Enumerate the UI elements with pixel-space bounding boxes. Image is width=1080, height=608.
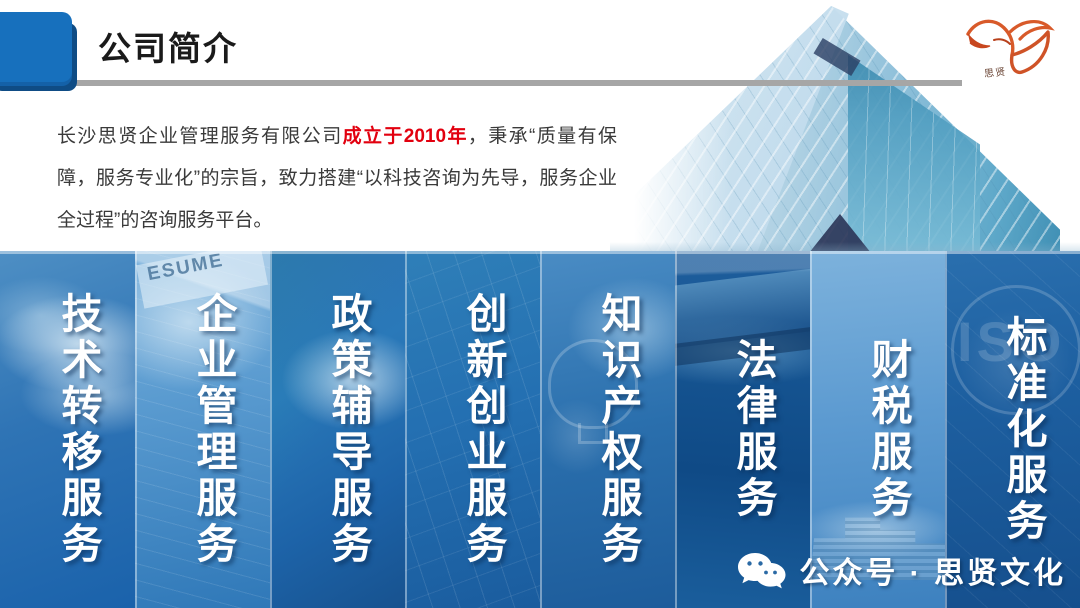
wechat-icon [737,550,787,590]
phoenix-bird-logo-icon [954,8,1062,92]
panel-tint [0,251,135,608]
service-panel[interactable]: 知识产权服务 [540,251,675,608]
wechat-icon-glyph [737,550,787,590]
service-panel[interactable]: 技术转移服务 [0,251,135,608]
service-panel[interactable]: ESUME 企业管理服务 [135,251,270,608]
building-fade-mask [610,0,730,252]
wechat-watermark: 公众号 · 思贤文化 [737,548,1066,592]
page-title: 公司简介 [98,22,238,70]
panel-tint [540,251,675,608]
intro-text-before: 长沙思贤企业管理服务有限公司 [57,126,343,147]
strip-top-highlight [0,251,1080,254]
logo-caption: 思贤 [983,63,1006,80]
title-tab [0,12,72,82]
header-divider [0,80,962,86]
panel-tint [270,251,405,608]
panel-tint [135,251,270,608]
service-panel[interactable]: 政策辅导服务 [270,251,405,608]
wechat-watermark-text: 公众号 · 思贤文化 [799,548,1066,592]
panel-tint [405,251,540,608]
intro-highlight: 成立于2010年 [343,126,468,147]
slide-canvas: 公司简介 思贤 长沙思贤企业管理服务有限公司成立于2010年，秉承“质量有保障，… [0,0,1080,608]
intro-paragraph: 长沙思贤企业管理服务有限公司成立于2010年，秉承“质量有保障，服务专业化”的宗… [57,116,617,242]
service-panel[interactable]: 创新创业服务 [405,251,540,608]
company-logo: 思贤 [954,8,1062,92]
